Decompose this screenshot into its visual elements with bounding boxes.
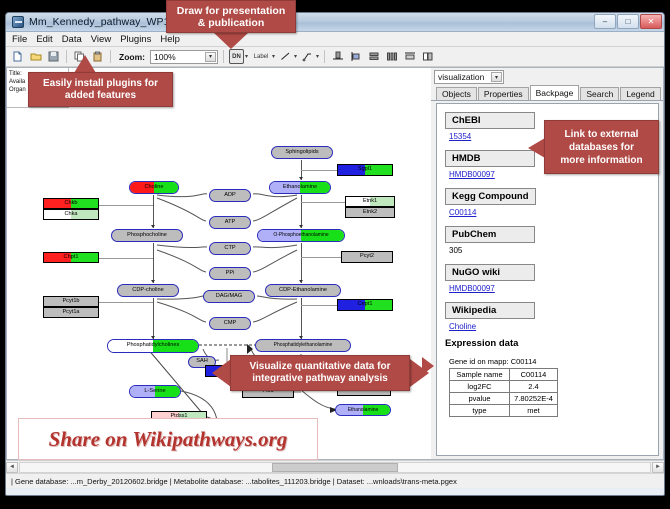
status-text: | Gene database: ...m_Derby_20120602.bri… [11, 477, 457, 486]
side-panel-tabs: Objects Properties Backpage Search Legen… [431, 86, 663, 101]
table-row: type met [450, 405, 558, 417]
edge [99, 205, 153, 206]
status-bar: | Gene database: ...m_Derby_20120602.bri… [6, 473, 664, 488]
table-row: log2FC 2.4 [450, 381, 558, 393]
label-tool[interactable]: Label ▾ [251, 49, 275, 64]
chevron-down-icon[interactable]: ▾ [272, 53, 275, 60]
backpage-link-nugo[interactable]: HMDB00097 [449, 284, 650, 293]
callout-visualize-line2: integrative pathway analysis [252, 373, 388, 385]
node-chkb[interactable]: Chkb [43, 198, 99, 209]
menu-bar: File Edit Data View Plugins Help [6, 32, 664, 47]
backpage-heading-nugo: NuGO wiki [445, 264, 535, 281]
node-ppi[interactable]: PPi [209, 267, 251, 280]
minimize-button[interactable]: – [594, 14, 616, 29]
zoom-value: 100% [154, 52, 176, 62]
arrow-icon [151, 280, 155, 283]
app-icon [12, 16, 24, 28]
backpage-link-wikipedia[interactable]: Choline [449, 322, 650, 331]
menu-data[interactable]: Data [62, 34, 82, 45]
visualization-value: visualization [438, 72, 484, 82]
visualization-row: visualization ▾ [431, 68, 663, 86]
menu-file[interactable]: File [12, 34, 27, 45]
backpage-value-pubchem: 305 [449, 246, 650, 255]
pathway-canvas[interactable]: Sphingolipids Choline Ethanolamine ADP A… [7, 68, 430, 459]
node-cept1[interactable]: Cept1 [337, 299, 393, 311]
tab-objects[interactable]: Objects [436, 87, 477, 100]
edge [301, 257, 341, 258]
title-bar: Mm_Kennedy_pathway_WP1771_45176.gpml – □… [6, 13, 664, 32]
node-pcyt1b[interactable]: Pcyt1b [43, 296, 99, 307]
gene-id-line: Gene id on mapp: C00114 [449, 357, 650, 366]
scrollbar-thumb[interactable] [272, 463, 398, 472]
same-size-icon[interactable] [402, 49, 417, 64]
zoom-combo[interactable]: 100% ▾ [150, 50, 218, 64]
menu-edit[interactable]: Edit [36, 34, 52, 45]
toolbar-separator [324, 50, 325, 63]
callout-plugins-line1: Easily install plugins for [43, 78, 158, 90]
callout-visualize-left-arrow-icon [212, 359, 231, 387]
save-disk-icon[interactable] [46, 49, 61, 64]
edge [153, 195, 154, 228]
arrow-icon [299, 225, 303, 228]
backpage-heading-pubchem: PubChem [445, 226, 535, 243]
label-icon: Label [251, 49, 271, 64]
backpage-heading-hmdb: HMDB [445, 150, 535, 167]
chevron-down-icon[interactable]: ▾ [316, 53, 319, 60]
backpage-heading-kegg: Kegg Compound [445, 188, 536, 205]
node-phosphocholine[interactable]: Phosphocholine [111, 229, 183, 242]
node-ctp[interactable]: CTP [209, 242, 251, 255]
scrollbar-track[interactable] [19, 462, 651, 473]
stack-vertical-icon[interactable] [366, 49, 381, 64]
cell-key: Sample name [450, 369, 510, 381]
menu-view[interactable]: View [91, 34, 111, 45]
node-o-phosphoethanolamine[interactable]: O-Phosphoethanolamine [257, 229, 345, 242]
cell-key: pvalue [450, 393, 510, 405]
table-row: pvalue 7.80252E-4 [450, 393, 558, 405]
tab-properties[interactable]: Properties [478, 87, 529, 100]
arrow-icon [299, 280, 303, 283]
node-chka[interactable]: Chka [43, 209, 99, 220]
node-l-serine-left[interactable]: L-Serine [129, 385, 181, 398]
chevron-down-icon[interactable]: ▾ [245, 53, 248, 60]
interaction-icon [300, 49, 315, 64]
visualization-combo[interactable]: visualization ▾ [434, 70, 504, 84]
expression-table: Sample name C00114 log2FC 2.4 pvalue 7.8… [449, 368, 558, 417]
node-phosphatidylethanolamine[interactable]: Phosphatidylethanolamine [255, 339, 351, 352]
menu-plugins[interactable]: Plugins [120, 34, 151, 45]
scroll-left-icon[interactable]: ◄ [6, 462, 18, 473]
open-folder-icon[interactable] [28, 49, 43, 64]
cell-value: 2.4 [510, 381, 558, 393]
edge [301, 170, 339, 171]
horizontal-scrollbar[interactable]: ◄ ► [6, 460, 664, 473]
node-cdp-ethanolamine[interactable]: CDP-Ethanolamine [265, 284, 341, 297]
toolbar-separator [110, 50, 111, 63]
arrow-icon [151, 225, 155, 228]
interaction-tool[interactable]: ▾ [300, 49, 319, 64]
chevron-down-icon[interactable]: ▾ [205, 52, 216, 62]
edge [301, 195, 302, 228]
backpage-heading-wikipedia: Wikipedia [445, 302, 535, 319]
cell-key: log2FC [450, 381, 510, 393]
pathway-edges [7, 68, 430, 459]
cell-value: 7.80252E-4 [510, 393, 558, 405]
chevron-down-icon[interactable]: ▾ [491, 72, 502, 82]
edge [301, 243, 302, 283]
share-text: Share on Wikipathways.org [49, 427, 288, 452]
node-cdp-choline[interactable]: CDP-choline [117, 284, 179, 297]
tab-backpage[interactable]: Backpage [530, 85, 580, 100]
toolbar: Zoom: 100% ▾ DN ▾ Label ▾ ▾ ▾ [6, 47, 664, 67]
datanode-tool[interactable]: DN ▾ [229, 49, 248, 64]
node-pcyt1a[interactable]: Pcyt1a [43, 307, 99, 318]
callout-links-line2: databases for [569, 141, 634, 154]
scroll-right-icon[interactable]: ► [652, 462, 664, 473]
node-chpt1[interactable]: Chpt1 [43, 252, 99, 263]
zoom-label: Zoom: [119, 52, 145, 62]
node-cmp[interactable]: CMP [209, 317, 251, 330]
datanode-icon: DN [229, 49, 244, 64]
callout-visualize-line1: Visualize quantitative data for [250, 361, 391, 373]
new-document-icon[interactable] [10, 49, 25, 64]
node-etnk1[interactable]: Etnk1 [345, 196, 395, 207]
tab-search[interactable]: Search [580, 87, 619, 100]
node-phosphatidylcholines[interactable]: Phosphatidylcholines [107, 339, 199, 353]
tab-legend[interactable]: Legend [620, 87, 660, 100]
callout-plugins-line2: added features [65, 90, 136, 102]
callout-draw-for-presentation: Draw for presentation & publication [166, 0, 296, 33]
callout-draw-line1: Draw for presentation [177, 5, 286, 17]
callout-visualize-data: Visualize quantitative data for integrat… [230, 355, 410, 391]
node-ethanolamine-right[interactable]: Ethanolamine [335, 404, 391, 416]
callout-visualize-right-arrow-icon [410, 359, 429, 387]
editor-pane: Sphingolipids Choline Ethanolamine ADP A… [6, 67, 431, 460]
node-dag-mag[interactable]: DAG/MAG [203, 290, 255, 303]
line-icon [278, 49, 293, 64]
cell-key: type [450, 405, 510, 417]
callout-draw-arrow-icon [214, 33, 248, 49]
bring-to-front-icon[interactable] [420, 49, 435, 64]
maximize-button[interactable]: □ [617, 14, 639, 29]
backpage-link-kegg[interactable]: C00114 [449, 208, 650, 217]
callout-share-wikipathways: Share on Wikipathways.org [18, 418, 318, 460]
chevron-down-icon[interactable]: ▾ [294, 53, 297, 60]
node-etnk2[interactable]: Etnk2 [345, 207, 395, 218]
table-row: Sample name C00114 [450, 369, 558, 381]
edge [99, 302, 153, 303]
arrow-icon [299, 177, 303, 180]
node-sgpl1[interactable]: Sgpl1 [337, 164, 393, 176]
distribute-icon[interactable] [384, 49, 399, 64]
window-controls: – □ ✕ [594, 14, 662, 29]
close-button[interactable]: ✕ [640, 14, 662, 29]
cell-value: C00114 [510, 369, 558, 381]
edge [153, 298, 154, 339]
node-sphingolipids[interactable]: Sphingolipids [271, 146, 333, 159]
edge [153, 243, 154, 283]
callout-draw-line2: & publication [198, 17, 265, 29]
node-pcyt2[interactable]: Pcyt2 [341, 251, 393, 263]
menu-help[interactable]: Help [160, 34, 180, 45]
toolbar-separator [223, 50, 224, 63]
align-top-icon[interactable] [330, 49, 345, 64]
line-tool[interactable]: ▾ [278, 49, 297, 64]
edge [301, 202, 345, 203]
callout-external-links: Link to external databases for more info… [544, 120, 659, 174]
cell-value: met [510, 405, 558, 417]
backpage-heading-chebi: ChEBI [445, 112, 535, 129]
toolbar-separator [66, 50, 67, 63]
node-adp[interactable]: ADP [209, 189, 251, 202]
node-ethanolamine[interactable]: Ethanolamine [269, 181, 331, 194]
align-left-icon[interactable] [348, 49, 363, 64]
callout-links-line3: more information [560, 154, 642, 167]
callout-links-line1: Link to external [565, 128, 639, 141]
node-atp[interactable]: ATP [209, 216, 251, 229]
callout-install-plugins: Easily install plugins for added feature… [28, 72, 173, 107]
node-choline-top[interactable]: Choline [129, 181, 179, 194]
edge [301, 305, 339, 306]
edge [99, 258, 153, 259]
expression-data-title: Expression data [445, 338, 650, 349]
